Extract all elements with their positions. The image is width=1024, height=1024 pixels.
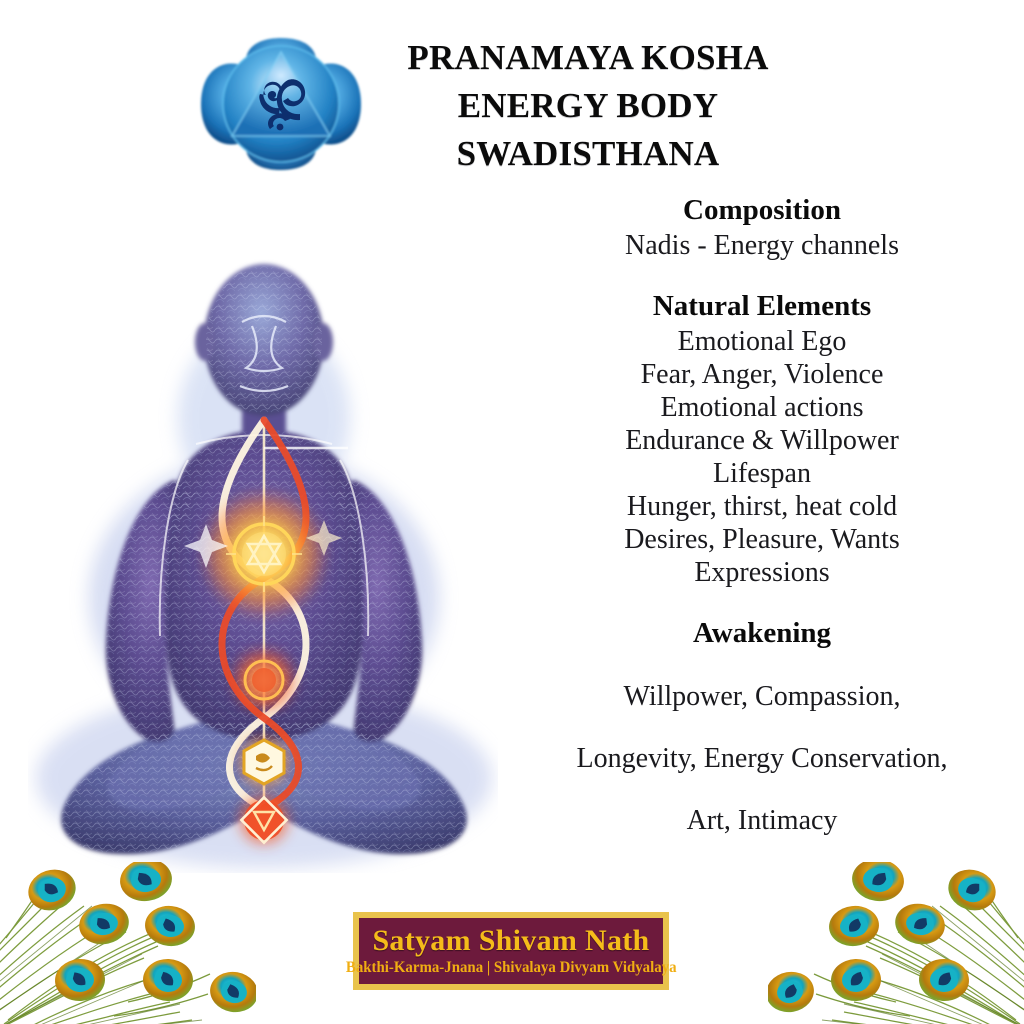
chakra-manipura	[198, 488, 330, 620]
brand-tagline: Bakthi-Karma-Jnana | Shivalaya Divyam Vi…	[346, 959, 677, 977]
peacock-feather-icon	[0, 862, 256, 1024]
peacock-feather-icon	[768, 862, 1024, 1024]
chakra-icon	[193, 32, 369, 177]
list-item: Expressions	[512, 556, 1012, 589]
natural-elements-list: Emotional Ego Fear, Anger, Violence Emot…	[512, 325, 1012, 589]
meditating-energy-body-figure	[28, 248, 498, 873]
energy-body-illustration	[28, 248, 498, 873]
awakening-line-3: Art, Intimacy	[512, 804, 1012, 838]
title-line-2: ENERGY BODY	[373, 82, 803, 130]
natural-elements-heading: Natural Elements	[512, 288, 1012, 325]
title-line-3: SWADISTHANA	[373, 130, 803, 178]
brand-banner: Satyam Shivam Nath Bakthi-Karma-Jnana | …	[353, 912, 669, 990]
list-item: Emotional Ego	[512, 325, 1012, 358]
composition-heading: Composition	[512, 192, 1012, 229]
poster-header: PRANAMAYA KOSHA ENERGY BODY SWADISTHANA	[0, 0, 1024, 190]
peacock-feathers-left	[0, 862, 256, 1024]
title-line-1: PRANAMAYA KOSHA	[373, 34, 803, 82]
peacock-feathers-right	[768, 862, 1024, 1024]
list-item: Lifespan	[512, 457, 1012, 490]
section-natural-elements: Natural Elements Emotional Ego Fear, Ang…	[512, 288, 1012, 589]
poster-canvas: PRANAMAYA KOSHA ENERGY BODY SWADISTHANA	[0, 0, 1024, 1024]
section-awakening: Awakening Willpower, Compassion, Longevi…	[512, 615, 1012, 838]
page-title: PRANAMAYA KOSHA ENERGY BODY SWADISTHANA	[373, 34, 803, 178]
spacer-2	[512, 589, 1012, 615]
awakening-line-1: Willpower, Compassion,	[512, 680, 1012, 714]
awakening-heading: Awakening	[512, 615, 1012, 652]
list-item: Fear, Anger, Violence	[512, 358, 1012, 391]
list-item: Hunger, thirst, heat cold	[512, 490, 1012, 523]
awakening-line-2: Longevity, Energy Conservation,	[512, 742, 1012, 776]
chakra-svadhisthana	[228, 644, 300, 716]
chakra-hexagon	[234, 732, 294, 792]
composition-line-1: Nadis - Energy channels	[512, 229, 1012, 262]
brand-name: Satyam Shivam Nath	[372, 925, 649, 957]
spacer-1	[512, 262, 1012, 288]
list-item: Emotional actions	[512, 391, 1012, 424]
list-item: Desires, Pleasure, Wants	[512, 523, 1012, 556]
chakra-muladhara	[234, 790, 294, 850]
section-composition: Composition Nadis - Energy channels	[512, 192, 1012, 262]
content-column: Composition Nadis - Energy channels Natu…	[512, 192, 1012, 866]
list-item: Endurance & Willpower	[512, 424, 1012, 457]
swadisthana-chakra-logo	[193, 32, 369, 177]
